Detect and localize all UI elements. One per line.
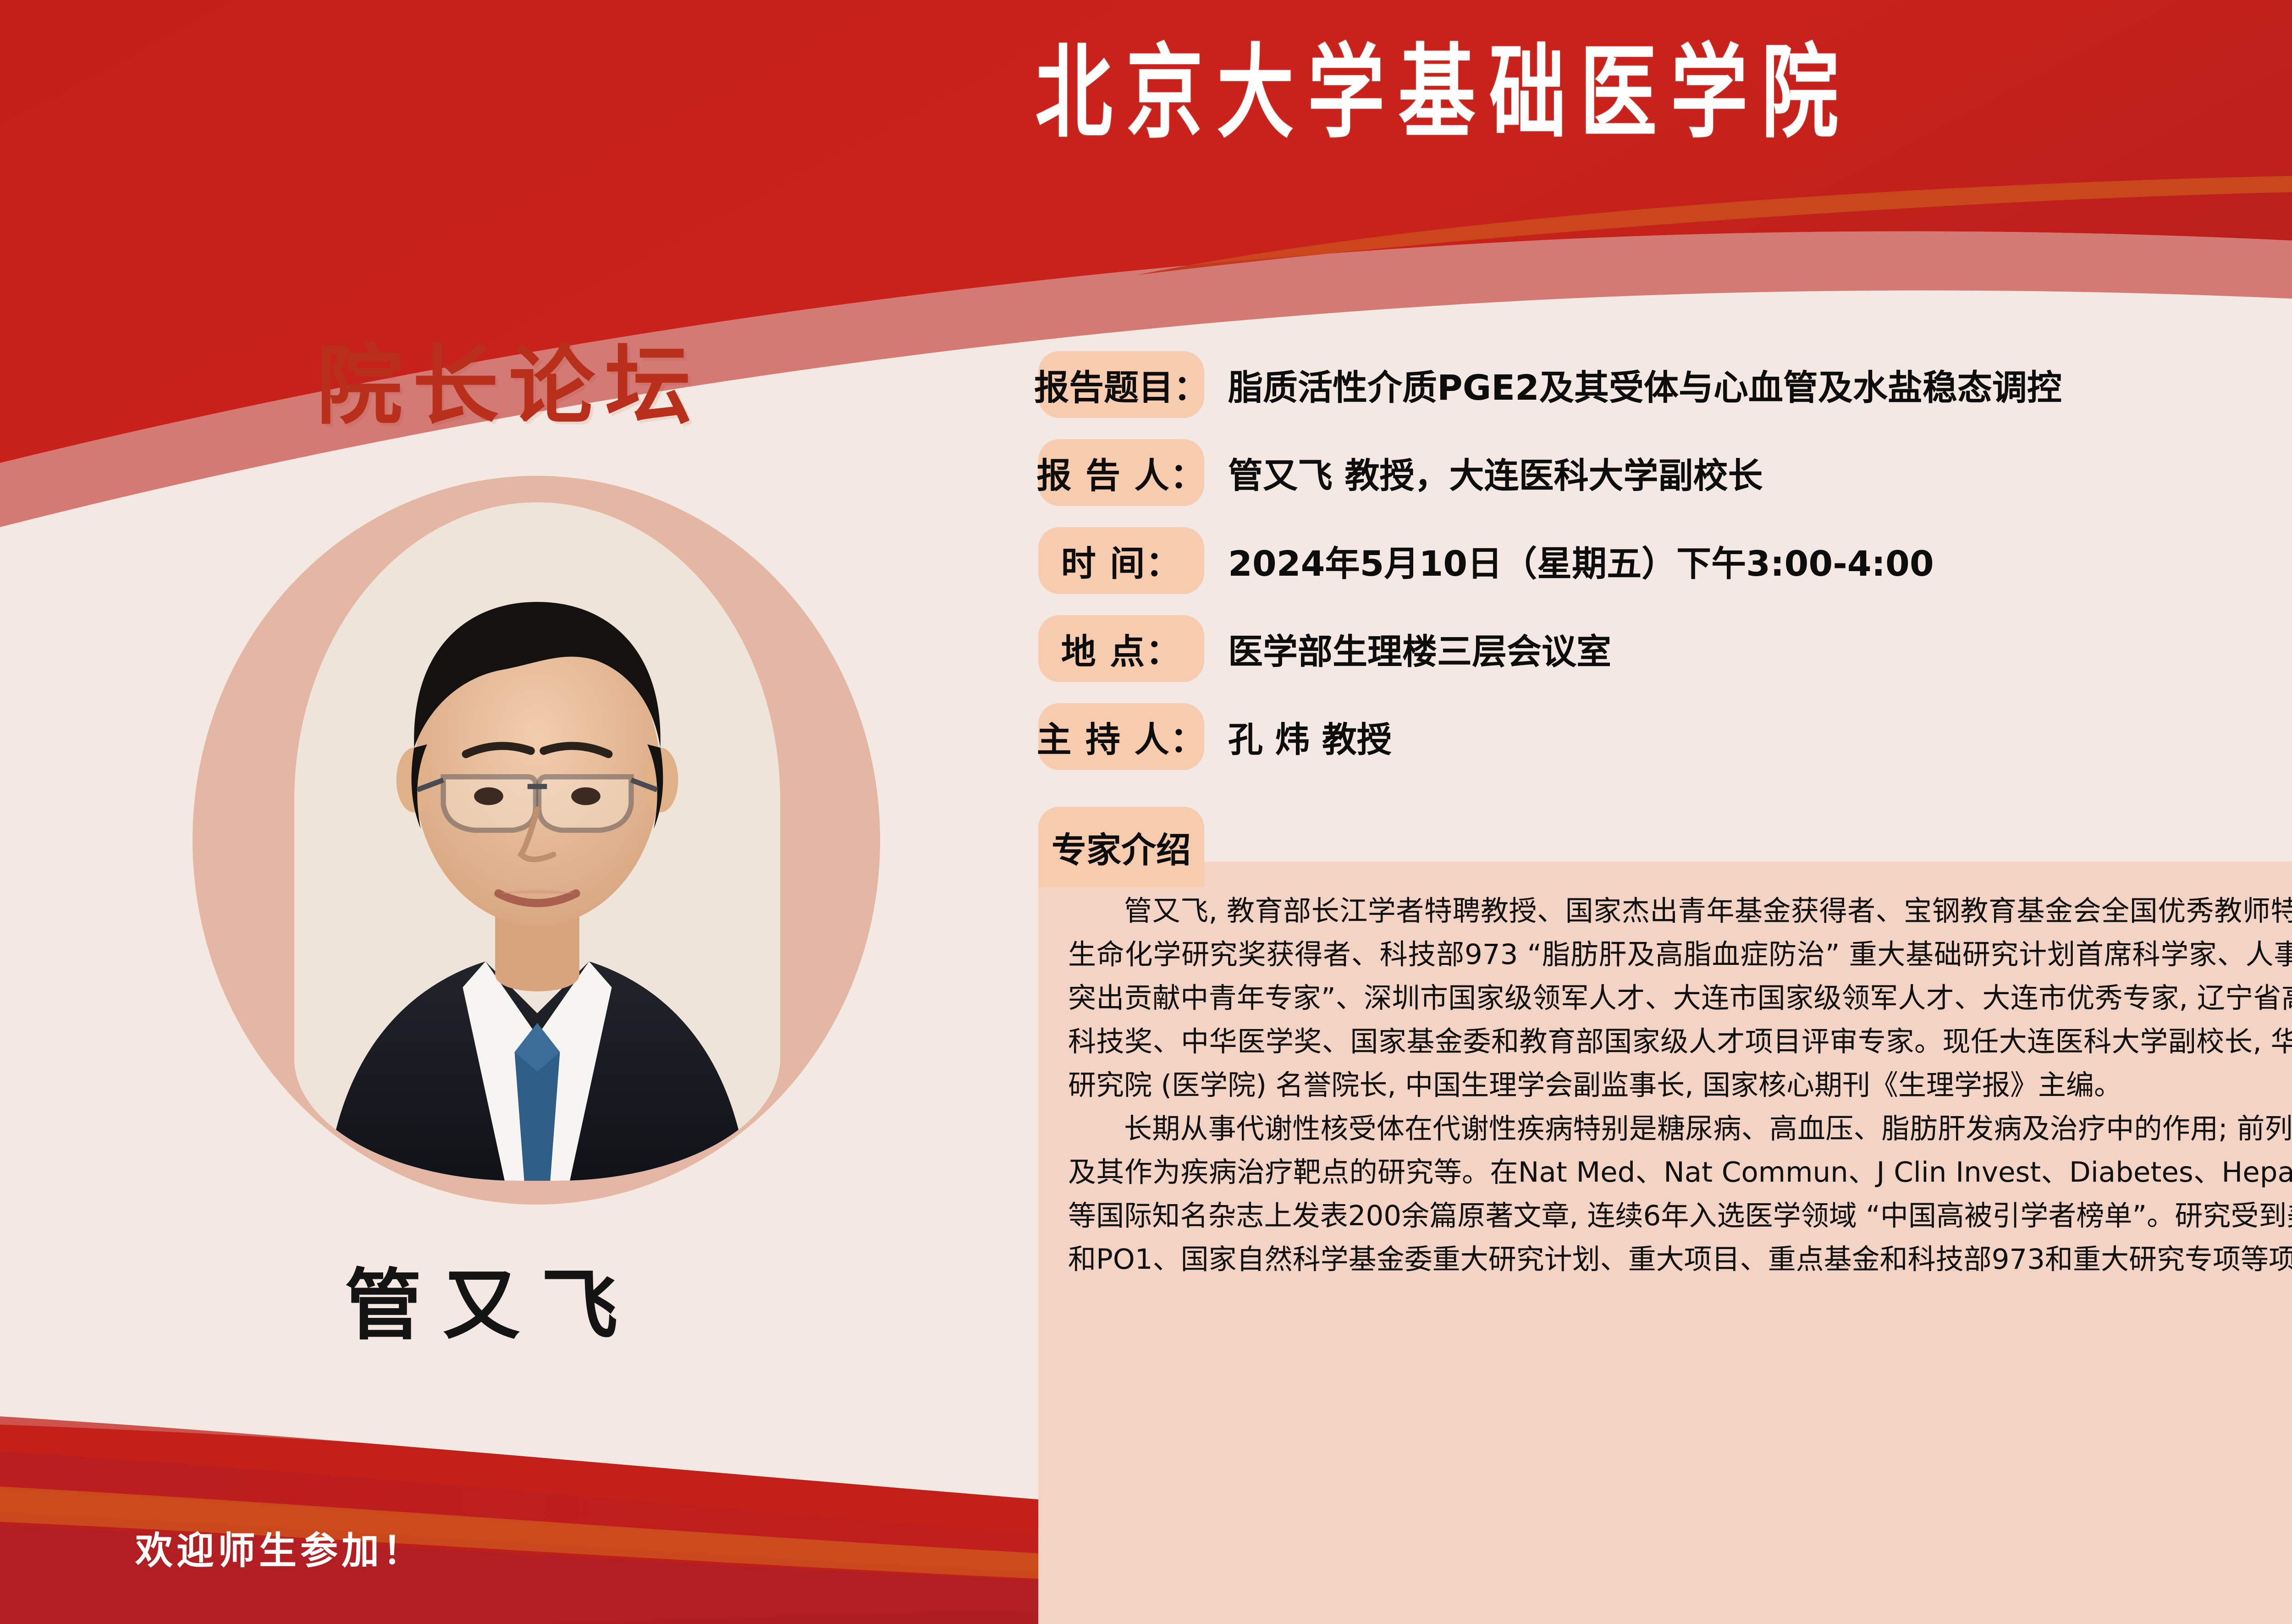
info-row-host: 主 持 人： 孔 炜 教授: [1038, 698, 2292, 775]
bio-paragraph-1: 管又飞, 教育部长江学者特聘教授、国家杰出青年基金获得者、宝钢教育基金会全国优秀…: [1068, 889, 2292, 1107]
speaker-photo: [294, 502, 780, 1181]
info-row-location: 地 点： 医学部生理楼三层会议室: [1038, 610, 2292, 687]
info-label-speaker: 报 告 人：: [1038, 439, 1204, 506]
footer-welcome-text: 欢迎师生参加！: [135, 1520, 424, 1574]
info-value-time: 2024年5月10日（星期五）下午3:00-4:00: [1228, 535, 1934, 586]
speaker-portrait: [193, 476, 880, 1205]
info-value-location: 医学部生理楼三层会议室: [1228, 623, 1611, 674]
info-value-host: 孔 炜 教授: [1228, 711, 1392, 762]
page-title: 北京大学基础医学院: [0, 28, 2292, 155]
bio-paragraph-2: 长期从事代谢性核受体在代谢性疾病特别是糖尿病、高血压、脂肪肝发病及治疗中的作用;…: [1068, 1107, 2292, 1281]
bio-heading: 专家介绍: [1038, 807, 1204, 887]
bio-body: 管又飞, 教育部长江学者特聘教授、国家杰出青年基金获得者、宝钢教育基金会全国优秀…: [1068, 889, 2292, 1281]
event-info-list: 报告题目： 脂质活性介质PGE2及其受体与心血管及水盐稳态调控 报 告 人： 管…: [1038, 346, 2292, 786]
info-label-time: 时 间：: [1038, 527, 1204, 594]
info-row-topic: 报告题目： 脂质活性介质PGE2及其受体与心血管及水盐稳态调控: [1038, 346, 2292, 423]
info-label-location: 地 点：: [1038, 615, 1204, 682]
poster-root: 北京大学基础医学院 1954: [0, 0, 2292, 1624]
info-label-topic: 报告题目：: [1038, 351, 1204, 418]
speaker-photo-illustration: [294, 502, 780, 1181]
info-label-host: 主 持 人：: [1038, 703, 1204, 770]
info-row-time: 时 间： 2024年5月10日（星期五）下午3:00-4:00: [1038, 522, 2292, 599]
info-value-speaker: 管又飞 教授，大连医科大学副校长: [1228, 447, 1763, 498]
info-value-topic: 脂质活性介质PGE2及其受体与心血管及水盐稳态调控: [1228, 359, 2062, 410]
forum-title: 院长论坛: [316, 316, 701, 441]
info-row-speaker: 报 告 人： 管又飞 教授，大连医科大学副校长: [1038, 434, 2292, 511]
speaker-name-calligraphy: 管又飞: [0, 1243, 963, 1354]
